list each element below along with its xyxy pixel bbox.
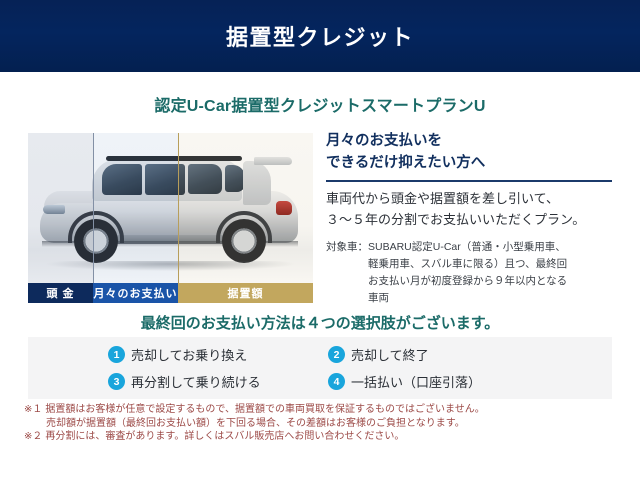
front-wheel <box>74 219 118 263</box>
plan-subtitle: 認定U-Car据置型クレジットスマートプランU <box>0 92 640 116</box>
footnote-2-mark: ※２ <box>24 430 42 444</box>
option-label-1: 売却してお乗り換え <box>131 345 247 364</box>
eligible-vehicle-line2: 軽乗用車、スバル車に限る）且つ、最終回 <box>368 258 567 270</box>
page-title: 据置型クレジット <box>226 20 414 52</box>
eligible-vehicle-line4: 車両 <box>368 292 389 304</box>
eligible-vehicle-text: SUBARU認定U-Car（普通・小型乗用車、 軽乗用車、スバル車に限る）且つ、… <box>368 239 567 307</box>
bar-segment-monthly: 月々のお支払い <box>93 283 178 303</box>
bar-segment-downpayment: 頭 金 <box>28 283 93 303</box>
option-label-3: 再分割して乗り続ける <box>131 372 261 391</box>
options-headline: 最終回のお支払い方法は４つの選択肢がございます。 <box>0 312 640 333</box>
promo-page: 据置型クレジット 認定U-Car据置型クレジットスマートプランU <box>0 0 640 480</box>
eligible-vehicle-label: 対象車： <box>326 239 368 307</box>
footnote-1-line1: 据置額はお客様が任意で設定するもので、据置額での車両買取を保証するものではござい… <box>45 403 484 417</box>
footnote-2: ※２ 再分割には、審査があります。詳しくはスバル販売店へお問い合わせください。 <box>24 430 624 444</box>
footnote-1: ※１ 据置額はお客様が任意で設定するもので、据置額での車両買取を保証するものでは… <box>24 403 624 417</box>
footnote-1-mark: ※１ <box>24 403 42 417</box>
option-badge-3: 3 <box>108 373 125 390</box>
final-payment-options-panel: 1 売却してお乗り換え 2 売却して終了 3 再分割して乗り続ける 4 一括払い… <box>28 337 612 399</box>
option-badge-4: 4 <box>328 373 345 390</box>
bar-segment-residual: 据置額 <box>178 283 313 303</box>
plan-headline: 月々のお支払いを できるだけ抑えたい方へ <box>326 130 616 175</box>
taillight-icon <box>276 201 292 215</box>
vehicle-cost-breakdown: 頭 金 月々のお支払い 据置額 <box>28 133 313 305</box>
header-banner: 据置型クレジット <box>0 0 640 72</box>
headlight-icon <box>43 205 65 214</box>
option-label-4: 一括払い（口座引落） <box>351 372 481 391</box>
option-badge-2: 2 <box>328 346 345 363</box>
plan-body-line2: ３〜５年の分割でお支払いいただくプラン。 <box>326 210 616 231</box>
vehicle-photo <box>28 133 313 283</box>
option-item-2[interactable]: 2 売却して終了 <box>328 345 548 364</box>
plan-body: 車両代から頭金や据置額を差し引いて、 ３〜５年の分割でお支払いいただくプラン。 <box>326 189 616 231</box>
option-label-2: 売却して終了 <box>351 345 429 364</box>
option-item-3[interactable]: 3 再分割して乗り続ける <box>108 372 328 391</box>
plan-headline-line1: 月々のお支払いを <box>326 130 616 152</box>
eligible-vehicle-line3: お支払い月が初度登録から９年以内となる <box>368 275 567 287</box>
suv-illustration <box>40 155 302 267</box>
headline-divider <box>326 180 612 182</box>
plan-description: 月々のお支払いを できるだけ抑えたい方へ 車両代から頭金や据置額を差し引いて、 … <box>326 130 616 307</box>
payment-breakdown-bar: 頭 金 月々のお支払い 据置額 <box>28 283 313 303</box>
footnote-1-line2: 売却額が据置額（最終回お支払い額）を下回る場合、その差額はお客様のご負担となりま… <box>24 417 624 431</box>
eligible-vehicle-note: 対象車： SUBARU認定U-Car（普通・小型乗用車、 軽乗用車、スバル車に限… <box>326 239 616 307</box>
footnote-2-line1: 再分割には、審査があります。詳しくはスバル販売店へお問い合わせください。 <box>45 430 404 444</box>
plan-headline-line2: できるだけ抑えたい方へ <box>326 152 616 174</box>
option-badge-1: 1 <box>108 346 125 363</box>
footnotes: ※１ 据置額はお客様が任意で設定するもので、据置額での車両買取を保証するものでは… <box>24 403 624 444</box>
plan-body-line1: 車両代から頭金や据置額を差し引いて、 <box>326 189 616 210</box>
rear-wheel <box>222 219 266 263</box>
eligible-vehicle-line1: SUBARU認定U-Car（普通・小型乗用車、 <box>368 241 566 253</box>
option-item-4[interactable]: 4 一括払い（口座引落） <box>328 372 548 391</box>
option-item-1[interactable]: 1 売却してお乗り換え <box>108 345 328 364</box>
